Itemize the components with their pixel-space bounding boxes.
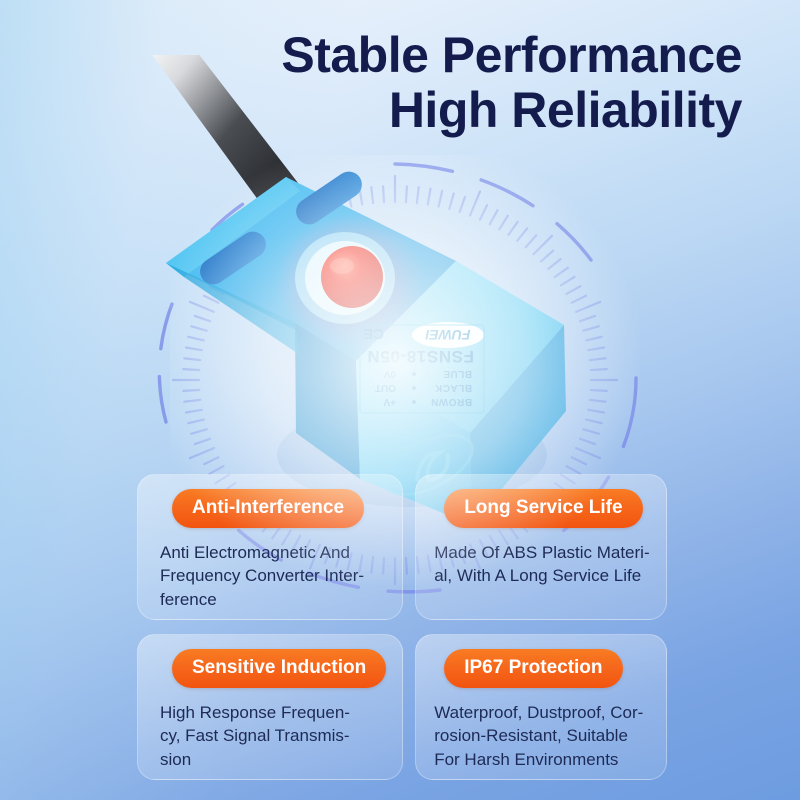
feature-badge-sensitive-induction: Sensitive Induction xyxy=(172,649,386,688)
svg-text:FUWEI: FUWEI xyxy=(424,327,470,343)
feature-body-ip67-protection: Waterproof, Dustproof, Cor- rosion-Resis… xyxy=(432,701,650,771)
feature-card-sensitive-induction[interactable]: Sensitive Induction High Response Freque… xyxy=(137,634,403,780)
feature-badge-anti-interference: Anti-Interference xyxy=(172,489,364,528)
svg-text:+V: +V xyxy=(383,396,396,407)
feature-badge-long-service-life: Long Service Life xyxy=(444,489,642,528)
page-title: Stable Performance High Reliability xyxy=(281,28,742,137)
svg-text:BLUE: BLUE xyxy=(443,368,472,379)
feature-badge-ip67-protection: IP67 Protection xyxy=(444,649,622,688)
svg-text:0V: 0V xyxy=(383,368,396,379)
feature-body-anti-interference: Anti Electromagnetic And Frequency Conve… xyxy=(154,541,386,611)
feature-body-sensitive-induction: High Response Frequen- cy, Fast Signal T… xyxy=(154,701,386,771)
product-feature-banner: BROWN BLACK BLUE +V OUT 0V FSNS18-05N CE… xyxy=(0,0,800,800)
feature-card-anti-interference[interactable]: Anti-Interference Anti Electromagnetic A… xyxy=(137,474,403,620)
svg-text:FSNS18-05N: FSNS18-05N xyxy=(367,347,474,366)
svg-text:CE: CE xyxy=(363,325,384,342)
feature-card-grid: Anti-Interference Anti Electromagnetic A… xyxy=(137,474,667,780)
headline-line-2: High Reliability xyxy=(281,83,742,138)
svg-text:BLACK: BLACK xyxy=(434,382,472,393)
svg-text:BROWN: BROWN xyxy=(431,396,472,407)
feature-card-long-service-life[interactable]: Long Service Life Made Of ABS Plastic Ma… xyxy=(415,474,667,620)
feature-card-ip67-protection[interactable]: IP67 Protection Waterproof, Dustproof, C… xyxy=(415,634,667,780)
feature-body-long-service-life: Made Of ABS Plastic Materi- al, With A L… xyxy=(432,541,650,588)
headline-line-1: Stable Performance xyxy=(281,28,742,83)
svg-text:OUT: OUT xyxy=(375,382,396,393)
